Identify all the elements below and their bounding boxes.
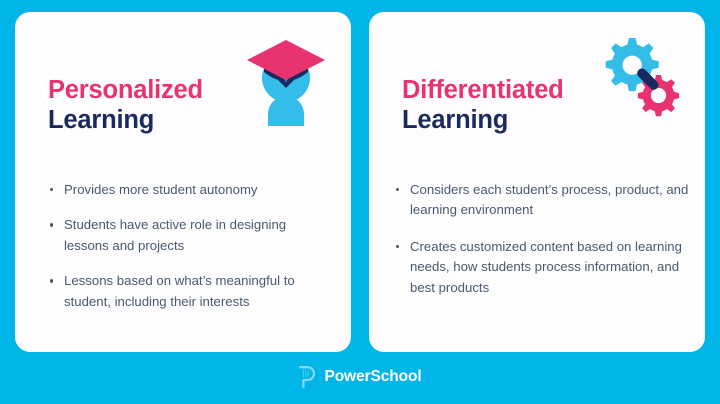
list-item: Students have active role in designing l…	[49, 215, 331, 256]
infographic-canvas: Personalized Learning Provides more stud…	[0, 0, 720, 404]
heading-line-primary: Differentiated	[402, 76, 564, 106]
list-item: Creates customized content based on lear…	[395, 237, 691, 298]
list-item: Considers each student’s process, produc…	[395, 180, 691, 221]
powerschool-p-logo-icon	[298, 366, 317, 388]
list-item: Lessons based on what’s meaningful to st…	[49, 271, 331, 312]
card-differentiated-learning: Differentiated Learning Considers each s…	[369, 12, 705, 352]
card-heading: Personalized Learning	[48, 76, 203, 136]
cards-row: Personalized Learning Provides more stud…	[15, 12, 705, 352]
bullet-list: Provides more student autonomy Students …	[49, 180, 331, 312]
list-item: Provides more student autonomy	[49, 180, 331, 200]
powerschool-wordmark: PowerSchool	[324, 368, 421, 386]
heading-line-primary: Personalized	[48, 76, 203, 106]
card-heading: Differentiated Learning	[402, 76, 564, 136]
graduation-cap-student-icon	[243, 34, 329, 126]
heading-line-secondary: Learning	[402, 106, 564, 136]
bullet-list: Considers each student’s process, produc…	[395, 180, 691, 314]
gears-icon	[597, 34, 683, 126]
card-personalized-learning: Personalized Learning Provides more stud…	[15, 12, 351, 352]
powerschool-logo: PowerSchool	[0, 364, 720, 390]
heading-line-secondary: Learning	[48, 106, 203, 136]
